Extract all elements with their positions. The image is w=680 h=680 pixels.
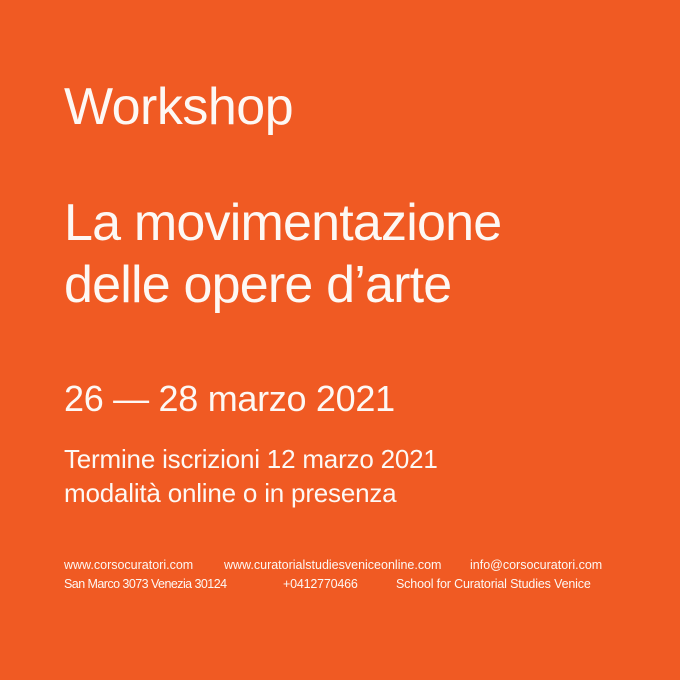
footer-email[interactable]: info@corsocuratori.com <box>470 556 602 575</box>
poster-subinfo: Termine iscrizioni 12 marzo 2021 modalit… <box>64 442 438 510</box>
poster-date-range: 26 — 28 marzo 2021 <box>64 378 395 420</box>
footer-phone[interactable]: +0412770466 <box>283 575 358 594</box>
footer-row-contact-web: www.corsocuratori.com www.curatorialstud… <box>64 556 624 575</box>
footer-website-primary[interactable]: www.corsocuratori.com <box>64 556 193 575</box>
footer-address: San Marco 3073 Venezia 30124 <box>64 575 227 594</box>
attendance-mode: modalità online o in presenza <box>64 476 438 510</box>
poster-title-line-1: La movimentazione <box>64 192 501 254</box>
poster-footer: www.corsocuratori.com www.curatorialstud… <box>64 556 624 594</box>
poster-title: La movimentazione delle opere d’arte <box>64 192 501 316</box>
footer-website-secondary[interactable]: www.curatorialstudiesveniceonline.com <box>224 556 441 575</box>
footer-organization: School for Curatorial Studies Venice <box>396 575 591 594</box>
footer-row-contact-address: San Marco 3073 Venezia 30124 +0412770466… <box>64 575 624 594</box>
poster-title-line-2: delle opere d’arte <box>64 254 501 316</box>
poster-kicker: Workshop <box>64 78 293 136</box>
poster-canvas: Workshop La movimentazione delle opere d… <box>0 0 680 680</box>
registration-deadline: Termine iscrizioni 12 marzo 2021 <box>64 442 438 476</box>
